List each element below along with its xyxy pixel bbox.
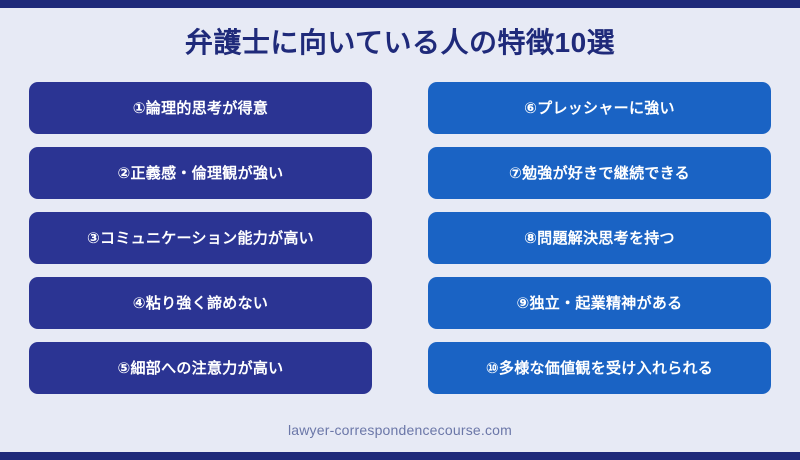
feature-item-3: ③コミュニケーション能力が高い — [29, 212, 372, 264]
feature-item-8: ⑧問題解決思考を持つ — [428, 212, 771, 264]
feature-item-2: ②正義感・倫理観が強い — [29, 147, 372, 199]
page-title: 弁護士に向いている人の特徴10選 — [0, 8, 800, 60]
feature-item-1: ①論理的思考が得意 — [29, 82, 372, 134]
feature-item-10-label: ⑩多様な価値観を受け入れられる — [486, 357, 713, 378]
feature-column-right: ⑥プレッシャーに強い ⑦勉強が好きで継続できる ⑧問題解決思考を持つ ⑨独立・起… — [428, 82, 771, 404]
feature-item-3-label: ③コミュニケーション能力が高い — [87, 227, 314, 248]
feature-item-5: ⑤細部への注意力が高い — [29, 342, 372, 394]
feature-item-6: ⑥プレッシャーに強い — [428, 82, 771, 134]
infographic-poster: 弁護士に向いている人の特徴10選 ①論理的思考が得意 ②正義感・倫理観が強い ③… — [0, 0, 800, 460]
top-accent-bar — [0, 0, 800, 8]
footer-site-url: lawyer-correspondencecourse.com — [0, 404, 800, 452]
feature-item-6-label: ⑥プレッシャーに強い — [524, 97, 675, 118]
feature-grid: ①論理的思考が得意 ②正義感・倫理観が強い ③コミュニケーション能力が高い ④粘… — [0, 60, 800, 404]
feature-item-1-label: ①論理的思考が得意 — [133, 97, 268, 118]
bottom-accent-bar — [0, 452, 800, 460]
feature-item-8-label: ⑧問題解決思考を持つ — [524, 227, 675, 248]
feature-item-4-label: ④粘り強く諦めない — [133, 292, 268, 313]
feature-column-left: ①論理的思考が得意 ②正義感・倫理観が強い ③コミュニケーション能力が高い ④粘… — [29, 82, 372, 404]
feature-item-7-label: ⑦勉強が好きで継続できる — [509, 162, 690, 183]
feature-item-2-label: ②正義感・倫理観が強い — [117, 162, 283, 183]
feature-item-10: ⑩多様な価値観を受け入れられる — [428, 342, 771, 394]
feature-item-9-label: ⑨独立・起業精神がある — [516, 292, 682, 313]
feature-item-5-label: ⑤細部への注意力が高い — [117, 357, 283, 378]
feature-item-7: ⑦勉強が好きで継続できる — [428, 147, 771, 199]
feature-item-9: ⑨独立・起業精神がある — [428, 277, 771, 329]
feature-item-4: ④粘り強く諦めない — [29, 277, 372, 329]
